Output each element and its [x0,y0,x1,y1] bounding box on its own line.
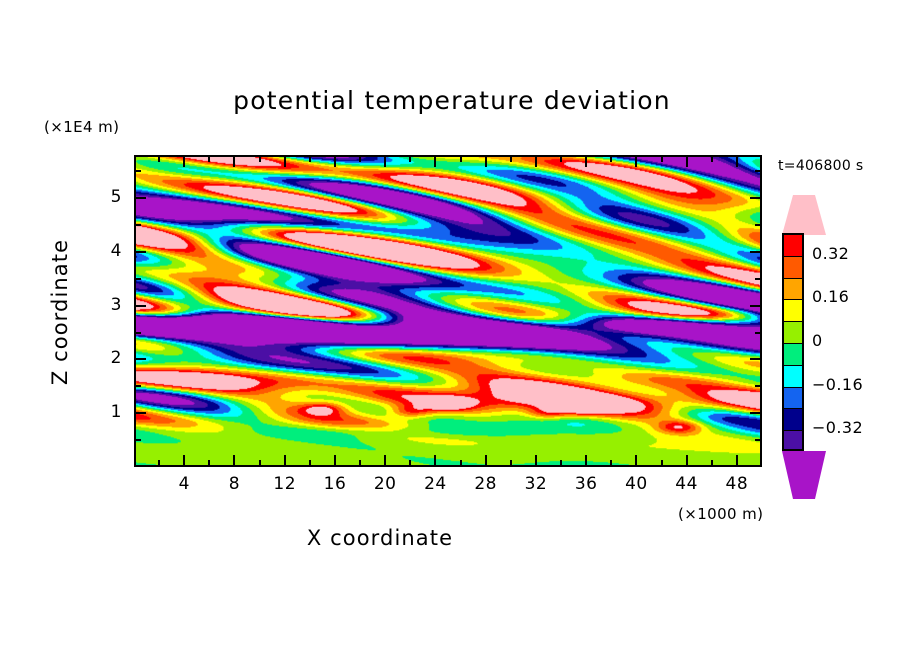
y-tick-label: 5 [92,187,122,207]
x-tick-minor [259,460,261,466]
x-tick-major [183,455,185,466]
x-tick-label: 48 [717,474,757,494]
colorbar-band [784,257,802,279]
y-tick-major [135,197,146,199]
x-tick-major [284,455,286,466]
x-tick-label: 20 [365,474,405,494]
y-tick-minor [135,385,141,387]
colorbar-band [784,344,802,366]
colorbar-band [784,300,802,322]
x-tick-label: 24 [415,474,455,494]
x-tick-major [233,455,235,466]
x-tick-label: 4 [164,474,204,494]
time-annotation: t=406800 s [778,158,863,174]
y-tick-major [135,305,146,307]
x-tick-major-top [535,156,537,167]
x-tick-label: 12 [265,474,305,494]
y-tick-major-right [750,197,761,199]
x-tick-major-top [686,156,688,167]
y-tick-label: 2 [92,348,122,368]
y-tick-minor-right [755,332,761,334]
x-tick-minor [309,460,311,466]
x-tick-minor-top [711,156,713,162]
x-tick-minor-top [359,156,361,162]
x-tick-label: 8 [214,474,254,494]
x-tick-label: 32 [516,474,556,494]
x-tick-major [585,455,587,466]
x-tick-label: 16 [315,474,355,494]
y-axis-title: Z coordinate [48,212,72,412]
colorbar-tick-label: 0.32 [812,244,849,263]
y-tick-major-right [750,305,761,307]
x-tick-label: 36 [566,474,606,494]
x-tick-minor [460,460,462,466]
x-tick-minor [711,460,713,466]
colorbar-tick-label: −0.16 [812,375,863,394]
x-tick-major-top [334,156,336,167]
y-tick-major [135,251,146,253]
colorbar-band [784,431,802,451]
y-axis-unit-label: (×1E4 m) [44,118,119,136]
colorbar-tick-label: 0.16 [812,287,849,306]
x-tick-minor-top [560,156,562,162]
x-tick-major-top [434,156,436,167]
x-tick-major-top [284,156,286,167]
y-tick-major [135,412,146,414]
colorbar-tick-label: −0.32 [812,418,863,437]
x-tick-minor-top [510,156,512,162]
x-tick-minor [610,460,612,466]
y-tick-label: 1 [92,402,122,422]
x-tick-minor-top [460,156,462,162]
colorbar-tick-label: 0 [812,331,823,350]
colorbar-band [784,235,802,257]
colorbar [782,233,804,451]
y-tick-minor-right [755,278,761,280]
figure-canvas: potential temperature deviation (×1E4 m)… [0,0,904,654]
y-tick-major-right [750,358,761,360]
x-tick-label: 44 [667,474,707,494]
plot-area [134,155,762,467]
y-tick-label: 3 [92,295,122,315]
x-tick-minor [661,460,663,466]
x-tick-minor [158,460,160,466]
y-tick-major [135,358,146,360]
y-tick-minor [135,170,141,172]
x-tick-major-top [384,156,386,167]
y-tick-minor [135,332,141,334]
x-tick-minor [208,460,210,466]
colorbar-over-arrow [782,195,826,235]
x-axis-title: X coordinate [0,526,760,550]
x-tick-label: 28 [466,474,506,494]
colorbar-band [784,409,802,431]
x-tick-minor-top [610,156,612,162]
x-tick-major [535,455,537,466]
x-tick-minor-top [409,156,411,162]
y-tick-minor-right [755,224,761,226]
x-tick-major [485,455,487,466]
colorbar-band [784,279,802,301]
x-tick-major [736,455,738,466]
colorbar-band [784,388,802,410]
x-axis-unit-label: (×1000 m) [678,505,763,523]
contour-field [136,157,760,465]
x-tick-minor [409,460,411,466]
y-tick-minor [135,439,141,441]
page-title: potential temperature deviation [0,86,904,115]
x-tick-major-top [233,156,235,167]
colorbar-band [784,366,802,388]
x-tick-major [635,455,637,466]
y-tick-minor-right [755,385,761,387]
x-tick-major-top [485,156,487,167]
x-tick-major-top [635,156,637,167]
x-tick-major [686,455,688,466]
colorbar-band [784,322,802,344]
y-tick-minor [135,224,141,226]
y-tick-minor [135,278,141,280]
x-tick-minor [560,460,562,466]
x-tick-label: 40 [616,474,656,494]
x-tick-minor-top [158,156,160,162]
x-tick-major-top [183,156,185,167]
y-tick-major-right [750,412,761,414]
x-tick-minor-top [208,156,210,162]
y-tick-minor-right [755,170,761,172]
x-tick-minor-top [259,156,261,162]
y-tick-label: 4 [92,241,122,261]
x-tick-major-top [736,156,738,167]
x-tick-minor-top [309,156,311,162]
x-tick-minor-top [661,156,663,162]
colorbar-under-arrow [782,451,826,499]
x-tick-minor [359,460,361,466]
y-tick-major-right [750,251,761,253]
x-tick-major [334,455,336,466]
x-tick-major [434,455,436,466]
y-tick-minor-right [755,439,761,441]
x-tick-minor [510,460,512,466]
x-tick-major [384,455,386,466]
x-tick-major-top [585,156,587,167]
